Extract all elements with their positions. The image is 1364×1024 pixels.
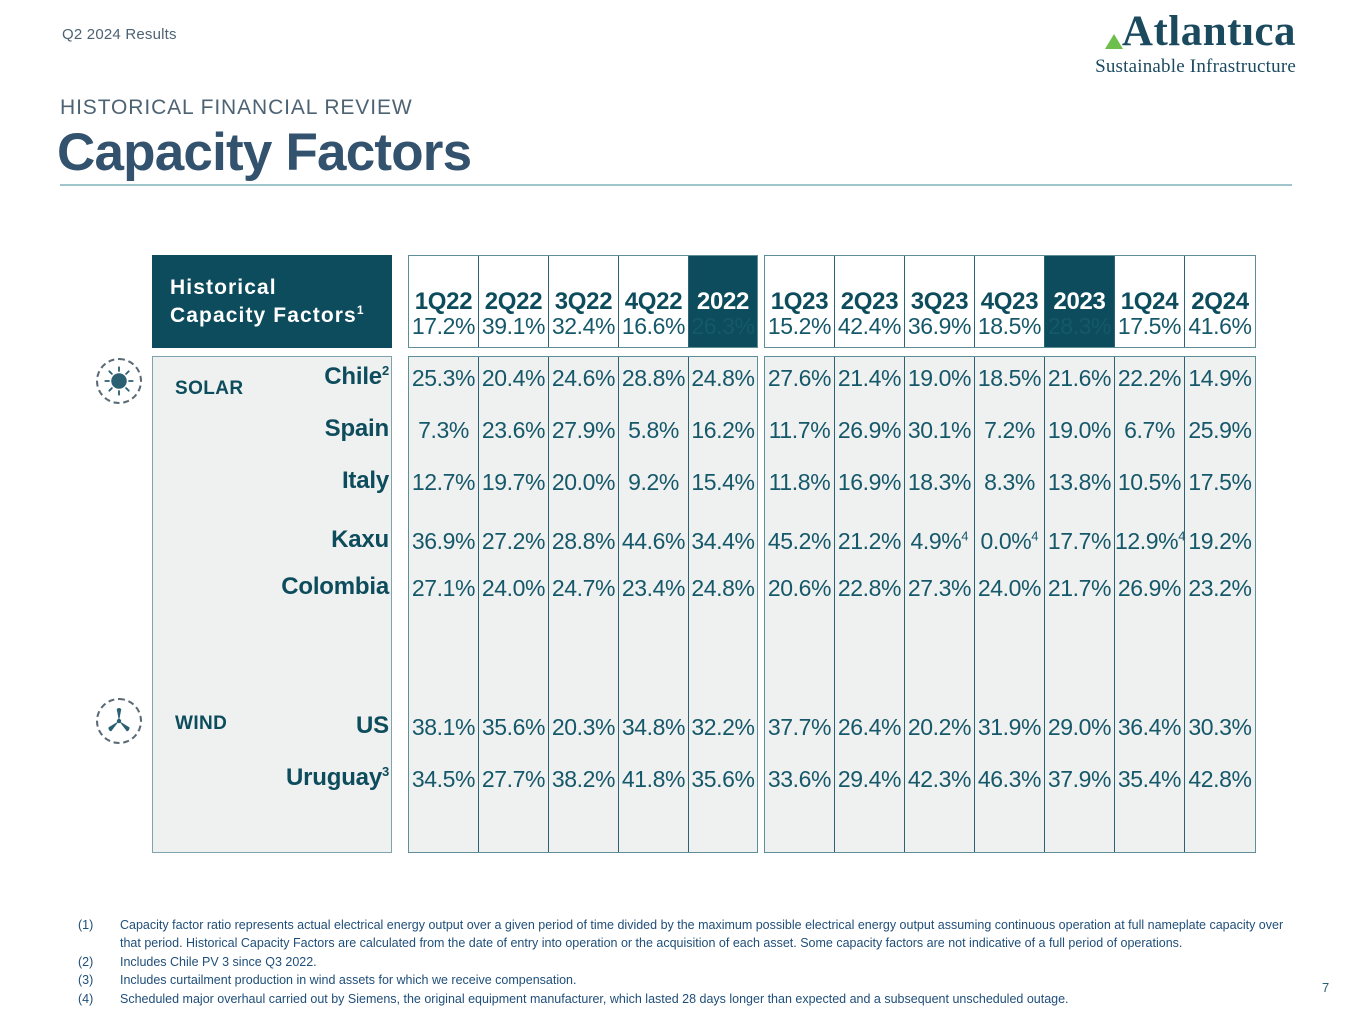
capacity-factors-table: HistoricalCapacity Factors1 1Q222Q223Q22… (0, 255, 1364, 860)
logo-triangle-icon (1105, 34, 1123, 49)
table-cell: 25.3% (409, 365, 478, 392)
table-cell: 41.8% (619, 766, 688, 793)
table-cell: 7.2% (975, 417, 1044, 444)
table-cell: 16.6% (619, 313, 688, 340)
table-cell: 33.6% (765, 766, 834, 793)
table-cell: 15.2% (765, 313, 834, 340)
table-cell: 34.4% (689, 528, 757, 555)
table-cell: 18.5% (975, 365, 1044, 392)
data-column: 26.3%24.8%16.2%15.4%34.4%24.8%32.2%35.6% (689, 357, 757, 852)
table-cell: 17.5% (1185, 469, 1255, 496)
table-cell: 27.9% (549, 417, 618, 444)
data-column: 17.5%22.2%6.7%10.5%12.9%426.9%36.4%35.4% (1115, 357, 1185, 852)
data-column: 42.4%21.4%26.9%16.9%21.2%22.8%26.4%29.4% (835, 357, 905, 852)
table-cell: 35.6% (479, 714, 548, 741)
table-cell: 17.7% (1045, 528, 1114, 555)
sun-icon (96, 358, 142, 404)
table-cell: 14.9% (1185, 365, 1255, 392)
footnote-text: Includes Chile PV 3 since Q3 2022. (120, 954, 1293, 972)
table-cell: 28.3% (1045, 313, 1114, 340)
table-cell: 6.7% (1115, 417, 1184, 444)
table-cell: 38.2% (549, 766, 618, 793)
section-label-solar: SOLAR (175, 378, 244, 400)
logo-wordmark: Atlantıca (1095, 10, 1296, 53)
table-cell: 17.5% (1115, 313, 1184, 340)
table-cell: 28.8% (619, 365, 688, 392)
table-cell: 27.7% (479, 766, 548, 793)
table-cell: 0.0%4 (975, 528, 1044, 555)
page-title: Capacity Factors (57, 122, 471, 183)
cell-footnote-ref: 4 (1031, 528, 1038, 543)
table-cell: 36.9% (409, 528, 478, 555)
section-kicker: HISTORICAL FINANCIAL REVIEW (60, 96, 413, 120)
table-cell: 29.0% (1045, 714, 1114, 741)
table-cell: 35.4% (1115, 766, 1184, 793)
table-cell: 27.3% (905, 575, 974, 602)
table-cell: 31.9% (975, 714, 1044, 741)
data-column: 18.5%18.5%7.2%8.3%0.0%424.0%31.9%46.3% (975, 357, 1045, 852)
data-column: 36.9%19.0%30.1%18.3%4.9%427.3%20.2%42.3% (905, 357, 975, 852)
table-cell: 28.8% (549, 528, 618, 555)
table-cell: 39.1% (479, 313, 548, 340)
table-cell: 20.0% (549, 469, 618, 496)
table-cell: 15.4% (689, 469, 757, 496)
data-column: 32.4%24.6%27.9%20.0%28.8%24.7%20.3%38.2% (549, 357, 619, 852)
page-number: 7 (1322, 980, 1329, 995)
table-cell: 37.9% (1045, 766, 1114, 793)
table-cell: 23.4% (619, 575, 688, 602)
table-cell: 30.3% (1185, 714, 1255, 741)
table-cell: 37.7% (765, 714, 834, 741)
atlantica-logo: Atlantıca Sustainable Infrastructure (1095, 10, 1296, 76)
table-cell: 8.3% (975, 469, 1044, 496)
table-cell: 24.7% (549, 575, 618, 602)
table-cell: 21.2% (835, 528, 904, 555)
title-divider (60, 184, 1292, 186)
footnote-item: (2)Includes Chile PV 3 since Q3 2022. (78, 954, 1293, 972)
table-cell: 41.6% (1185, 313, 1255, 340)
table-cell: 26.4% (835, 714, 904, 741)
data-column: 41.6%14.9%25.9%17.5%19.2%23.2%30.3%42.8% (1185, 357, 1255, 852)
row-label: Italy (342, 467, 389, 495)
row-label: Spain (325, 415, 389, 443)
table-cell: 30.1% (905, 417, 974, 444)
table-cell: 12.7% (409, 469, 478, 496)
footnote-item: (3)Includes curtailment production in wi… (78, 972, 1293, 990)
table-cell: 19.0% (1045, 417, 1114, 444)
data-column: 17.2%25.3%7.3%12.7%36.9%27.1%38.1%34.5% (409, 357, 479, 852)
table-cell: 32.2% (689, 714, 757, 741)
table-cell: 44.6% (619, 528, 688, 555)
table-cell: 18.3% (905, 469, 974, 496)
table-cell: 24.0% (975, 575, 1044, 602)
footnote-item: (1)Capacity factor ratio represents actu… (78, 917, 1293, 953)
row-label: Colombia (281, 573, 389, 601)
row-label: Kaxu (331, 526, 389, 554)
table-cell: 46.3% (975, 766, 1044, 793)
table-cell: 23.6% (479, 417, 548, 444)
table-cell: 35.6% (689, 766, 757, 793)
table-cell: 34.8% (619, 714, 688, 741)
table-cell: 42.3% (905, 766, 974, 793)
section-label-wind: WIND (175, 713, 227, 735)
table-cell: 18.5% (975, 313, 1044, 340)
data-group-2022: 17.2%25.3%7.3%12.7%36.9%27.1%38.1%34.5%3… (408, 356, 758, 853)
table-cell: 16.2% (689, 417, 757, 444)
logo-tagline: Sustainable Infrastructure (1095, 57, 1296, 76)
footnote-number: (3) (78, 972, 120, 990)
table-cell: 27.1% (409, 575, 478, 602)
table-cell: 20.6% (765, 575, 834, 602)
table-cell: 19.7% (479, 469, 548, 496)
row-label-footnote-ref: 3 (382, 764, 389, 779)
row-label: US (356, 712, 389, 740)
data-column: 16.6%28.8%5.8%9.2%44.6%23.4%34.8%41.8% (619, 357, 689, 852)
table-cell: 11.7% (765, 417, 834, 444)
table-cell: 13.8% (1045, 469, 1114, 496)
footnote-number: (1) (78, 917, 120, 953)
table-cell: 19.2% (1185, 528, 1255, 555)
footnote-text: Capacity factor ratio represents actual … (120, 917, 1293, 953)
table-cell: 4.9%4 (905, 528, 974, 555)
table-cell: 24.0% (479, 575, 548, 602)
table-cell: 27.6% (765, 365, 834, 392)
row-label: Uruguay3 (286, 764, 389, 792)
footnote-text: Includes curtailment production in wind … (120, 972, 1293, 990)
table-cell: 7.3% (409, 417, 478, 444)
table-cell: 45.2% (765, 528, 834, 555)
table-cell: 10.5% (1115, 469, 1184, 496)
row-label: Chile2 (324, 363, 389, 391)
table-cell: 12.9%4 (1115, 528, 1184, 555)
table-cell: 26.9% (1115, 575, 1184, 602)
table-cell: 17.2% (409, 313, 478, 340)
footnote-text: Scheduled major overhaul carried out by … (120, 991, 1293, 1009)
table-cell: 27.2% (479, 528, 548, 555)
table-cell: 21.6% (1045, 365, 1114, 392)
table-cell: 36.4% (1115, 714, 1184, 741)
table-cell: 38.1% (409, 714, 478, 741)
table-cell: 22.8% (835, 575, 904, 602)
data-column: 28.3%21.6%19.0%13.8%17.7%21.7%29.0%37.9% (1045, 357, 1115, 852)
cell-footnote-ref: 4 (961, 528, 968, 543)
table-cell: 34.5% (409, 766, 478, 793)
table-cell: 42.4% (835, 313, 904, 340)
table-cell: 32.4% (549, 313, 618, 340)
table-cell: 19.0% (905, 365, 974, 392)
deck-subtitle: Q2 2024 Results (62, 26, 177, 43)
table-cell: 20.4% (479, 365, 548, 392)
table-corner-header-label: HistoricalCapacity Factors1 (170, 274, 364, 329)
table-cell: 21.7% (1045, 575, 1114, 602)
table-cell: 20.2% (905, 714, 974, 741)
table-cell: 26.9% (835, 417, 904, 444)
footnote-number: (4) (78, 991, 120, 1009)
footnotes: (1)Capacity factor ratio represents actu… (78, 917, 1293, 1010)
table-cell: 9.2% (619, 469, 688, 496)
footnote-item: (4)Scheduled major overhaul carried out … (78, 991, 1293, 1009)
table-cell: 20.3% (549, 714, 618, 741)
table-cell: 42.8% (1185, 766, 1255, 793)
table-cell: 11.8% (765, 469, 834, 496)
table-cell: 24.8% (689, 365, 757, 392)
table-cell: 24.8% (689, 575, 757, 602)
table-cell: 26.3% (689, 313, 757, 340)
table-cell: 22.2% (1115, 365, 1184, 392)
data-column: 15.2%27.6%11.7%11.8%45.2%20.6%37.7%33.6% (765, 357, 835, 852)
data-group-2023-2024: 15.2%27.6%11.7%11.8%45.2%20.6%37.7%33.6%… (764, 356, 1256, 853)
footnote-number: (2) (78, 954, 120, 972)
data-column: 39.1%20.4%23.6%19.7%27.2%24.0%35.6%27.7% (479, 357, 549, 852)
table-cell: 29.4% (835, 766, 904, 793)
table-cell: 21.4% (835, 365, 904, 392)
table-cell: 36.9% (905, 313, 974, 340)
table-cell: 24.6% (549, 365, 618, 392)
row-label-panel: SOLARWINDUSChile2SpainItalyKaxuColombiaU… (152, 356, 392, 853)
row-label: US (356, 311, 389, 339)
wind-turbine-icon (96, 698, 142, 744)
table-cell: 5.8% (619, 417, 688, 444)
table-cell: 16.9% (835, 469, 904, 496)
table-cell: 23.2% (1185, 575, 1255, 602)
row-label-footnote-ref: 2 (382, 363, 389, 378)
table-cell: 25.9% (1185, 417, 1255, 444)
